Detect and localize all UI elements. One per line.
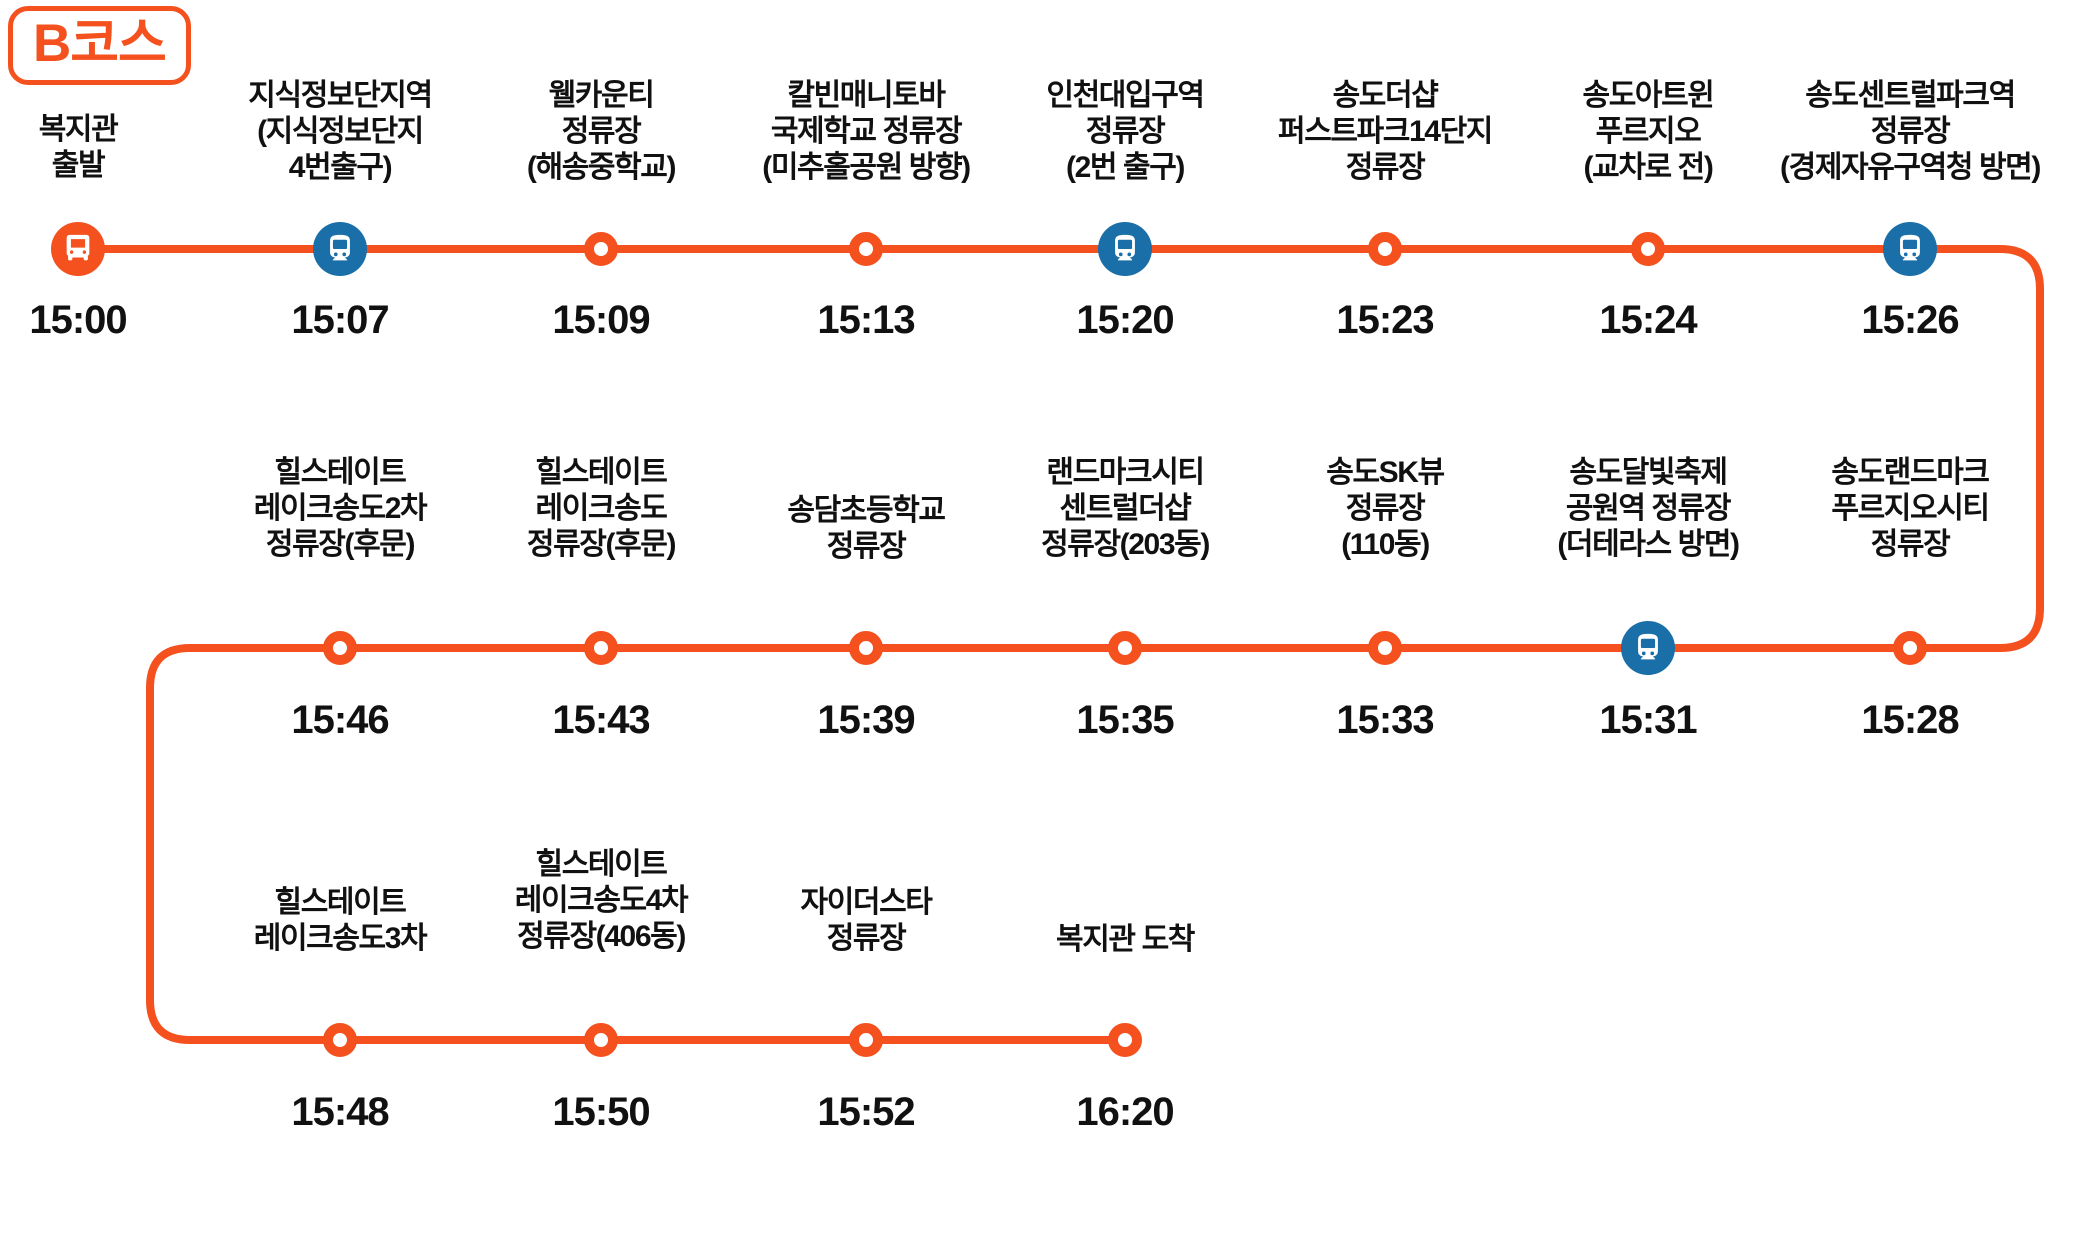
station-time-r3-c3: 15:52: [746, 1092, 986, 1132]
station-time-r2-c5: 15:33: [1265, 700, 1505, 740]
station-r2-c3[interactable]: 송담초등학교 정류장: [746, 493, 986, 565]
station-time-r2-c6: 15:31: [1528, 700, 1768, 740]
station-time: 15:00: [0, 300, 198, 340]
station-r2-c6[interactable]: 송도달빛축제 공원역 정류장 (더테라스 방면): [1513, 455, 1783, 563]
station-name: 송도달빛축제 공원역 정류장 (더테라스 방면): [1513, 455, 1783, 563]
bus-stop-dot-icon[interactable]: [1108, 631, 1142, 665]
station-r1-c1[interactable]: 복지관 출발: [0, 112, 198, 184]
station-time: 15:07: [220, 300, 460, 340]
station-name: 랜드마크시티 센트럴더샵 정류장(203동): [985, 455, 1265, 563]
station-name: 인천대입구역 정류장 (2번 출구): [1005, 78, 1245, 186]
station-r3-c2[interactable]: 힐스테이트 레이크송도4차 정류장(406동): [481, 847, 721, 955]
station-name: 칼빈매니토바 국제학교 정류장 (미추홀공원 방향): [721, 78, 1011, 186]
bus-stop-dot-icon[interactable]: [1108, 1023, 1142, 1057]
station-time: 15:13: [746, 300, 986, 340]
station-time-r2-c7: 15:28: [1790, 700, 2030, 740]
bus-stop-dot-icon[interactable]: [584, 232, 618, 266]
bus-stop-dot-icon[interactable]: [323, 631, 357, 665]
station-time: 15:35: [1005, 700, 1245, 740]
station-time: 15:46: [220, 700, 460, 740]
bus-stop-dot-icon[interactable]: [1368, 631, 1402, 665]
station-name: 자이더스타 정류장: [746, 885, 986, 957]
station-time-r3-c4: 16:20: [1005, 1092, 1245, 1132]
station-time: 15:23: [1265, 300, 1505, 340]
station-r3-c3[interactable]: 자이더스타 정류장: [746, 885, 986, 957]
bus-icon[interactable]: [51, 222, 105, 276]
subway-train-icon[interactable]: [1098, 222, 1152, 276]
station-r2-c1[interactable]: 힐스테이트 레이크송도2차 정류장(후문): [220, 455, 460, 563]
station-time: 15:39: [746, 700, 986, 740]
station-time-r1-c3: 15:09: [481, 300, 721, 340]
station-r1-c2[interactable]: 지식정보단지역 (지식정보단지 4번출구): [220, 78, 460, 186]
station-r3-c1[interactable]: 힐스테이트 레이크송도3차: [220, 885, 460, 957]
station-r2-c4[interactable]: 랜드마크시티 센트럴더샵 정류장(203동): [985, 455, 1265, 563]
station-name: 힐스테이트 레이크송도 정류장(후문): [481, 455, 721, 563]
station-time: 15:20: [1005, 300, 1245, 340]
station-name: 힐스테이트 레이크송도3차: [220, 885, 460, 957]
station-time: 15:28: [1790, 700, 2030, 740]
route-map-canvas: B코스 복지관 출발 15:00 지식정보단지역 (지식정보단지 4번출구) 1…: [0, 0, 2092, 1238]
station-r1-c8[interactable]: 송도센트럴파크역 정류장 (경제자유구역청 방면): [1730, 78, 2090, 186]
station-time: 15:43: [481, 700, 721, 740]
station-time-r1-c5: 15:20: [1005, 300, 1245, 340]
station-time: 16:20: [1005, 1092, 1245, 1132]
station-time: 15:52: [746, 1092, 986, 1132]
station-name: 송도센트럴파크역 정류장 (경제자유구역청 방면): [1730, 78, 2090, 186]
station-time: 15:24: [1528, 300, 1768, 340]
station-time-r1-c8: 15:26: [1790, 300, 2030, 340]
station-time-r3-c1: 15:48: [220, 1092, 460, 1132]
bus-stop-dot-icon[interactable]: [323, 1023, 357, 1057]
station-time-r1-c4: 15:13: [746, 300, 986, 340]
station-name: 복지관 출발: [0, 112, 198, 184]
station-name: 송담초등학교 정류장: [746, 493, 986, 565]
station-name: 힐스테이트 레이크송도4차 정류장(406동): [481, 847, 721, 955]
station-time: 15:09: [481, 300, 721, 340]
bus-stop-dot-icon[interactable]: [849, 1023, 883, 1057]
bus-stop-dot-icon[interactable]: [1368, 232, 1402, 266]
bus-stop-dot-icon[interactable]: [849, 631, 883, 665]
station-r1-c6[interactable]: 송도더샵 퍼스트파크14단지 정류장: [1245, 78, 1525, 186]
station-time-r1-c6: 15:23: [1265, 300, 1505, 340]
subway-train-icon[interactable]: [1621, 621, 1675, 675]
station-time-r1-c1: 15:00: [0, 300, 198, 340]
subway-train-icon[interactable]: [313, 222, 367, 276]
course-badge: B코스: [8, 6, 191, 85]
station-time: 15:26: [1790, 300, 2030, 340]
station-r2-c5[interactable]: 송도SK뷰 정류장 (110동): [1265, 455, 1505, 563]
station-r1-c3[interactable]: 웰카운티 정류장 (해송중학교): [481, 78, 721, 186]
station-r2-c7[interactable]: 송도랜드마크 푸르지오시티 정류장: [1790, 455, 2030, 563]
station-time: 15:50: [481, 1092, 721, 1132]
station-time-r3-c2: 15:50: [481, 1092, 721, 1132]
station-time: 15:48: [220, 1092, 460, 1132]
bus-stop-dot-icon[interactable]: [584, 1023, 618, 1057]
bus-stop-dot-icon[interactable]: [849, 232, 883, 266]
station-name: 송도랜드마크 푸르지오시티 정류장: [1790, 455, 2030, 563]
station-time-r1-c7: 15:24: [1528, 300, 1768, 340]
bus-stop-dot-icon[interactable]: [584, 631, 618, 665]
station-name: 송도SK뷰 정류장 (110동): [1265, 455, 1505, 563]
station-time-r2-c4: 15:35: [1005, 700, 1245, 740]
station-r3-c4[interactable]: 복지관 도착: [1005, 922, 1245, 958]
station-time: 15:33: [1265, 700, 1505, 740]
station-name: 송도더샵 퍼스트파크14단지 정류장: [1245, 78, 1525, 186]
bus-stop-dot-icon[interactable]: [1893, 631, 1927, 665]
station-r1-c4[interactable]: 칼빈매니토바 국제학교 정류장 (미추홀공원 방향): [721, 78, 1011, 186]
station-name: 지식정보단지역 (지식정보단지 4번출구): [220, 78, 460, 186]
station-time-r1-c2: 15:07: [220, 300, 460, 340]
station-name: 힐스테이트 레이크송도2차 정류장(후문): [220, 455, 460, 563]
station-time-r2-c2: 15:43: [481, 700, 721, 740]
station-r2-c2[interactable]: 힐스테이트 레이크송도 정류장(후문): [481, 455, 721, 563]
subway-train-icon[interactable]: [1883, 222, 1937, 276]
station-time-r2-c1: 15:46: [220, 700, 460, 740]
station-name: 복지관 도착: [1005, 922, 1245, 958]
station-name: 웰카운티 정류장 (해송중학교): [481, 78, 721, 186]
station-time-r2-c3: 15:39: [746, 700, 986, 740]
station-r1-c5[interactable]: 인천대입구역 정류장 (2번 출구): [1005, 78, 1245, 186]
station-time: 15:31: [1528, 700, 1768, 740]
bus-stop-dot-icon[interactable]: [1631, 232, 1665, 266]
